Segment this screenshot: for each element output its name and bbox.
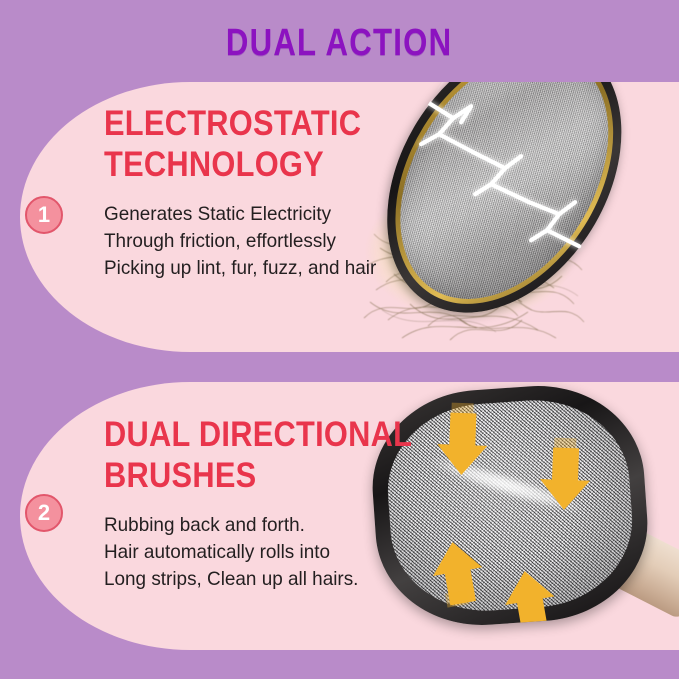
- feature-heading-1: ELECTROSTATIC TECHNOLOGY: [104, 104, 361, 185]
- heading-line: TECHNOLOGY: [104, 145, 361, 186]
- heading-line: BRUSHES: [104, 456, 412, 497]
- feature-body-2: Rubbing back and forth. Hair automatical…: [104, 512, 444, 593]
- body-line: Through friction, effortlessly: [104, 228, 388, 255]
- body-line: Picking up lint, fur, fuzz, and hair: [104, 255, 388, 282]
- step-badge-1: 1: [25, 196, 63, 234]
- infographic-poster: DUAL ACTION: [0, 0, 679, 679]
- body-line: Rubbing back and forth.: [104, 512, 444, 539]
- body-line: Long strips, Clean up all hairs.: [104, 566, 444, 593]
- feature-text-2: DUAL DIRECTIONAL BRUSHES Rubbing back an…: [104, 415, 454, 593]
- body-line: Hair automatically rolls into: [104, 539, 444, 566]
- body-line: Generates Static Electricity: [104, 201, 388, 228]
- heading-line: ELECTROSTATIC: [104, 104, 361, 145]
- feature-body-1: Generates Static Electricity Through fri…: [104, 201, 388, 282]
- feature-text-1: ELECTROSTATIC TECHNOLOGY Generates Stati…: [104, 104, 396, 282]
- heading-line: DUAL DIRECTIONAL: [104, 415, 412, 456]
- feature-heading-2: DUAL DIRECTIONAL BRUSHES: [104, 415, 412, 496]
- poster-title-bar: DUAL ACTION: [0, 14, 679, 72]
- poster-title: DUAL ACTION: [226, 22, 452, 65]
- step-badge-2: 2: [25, 494, 63, 532]
